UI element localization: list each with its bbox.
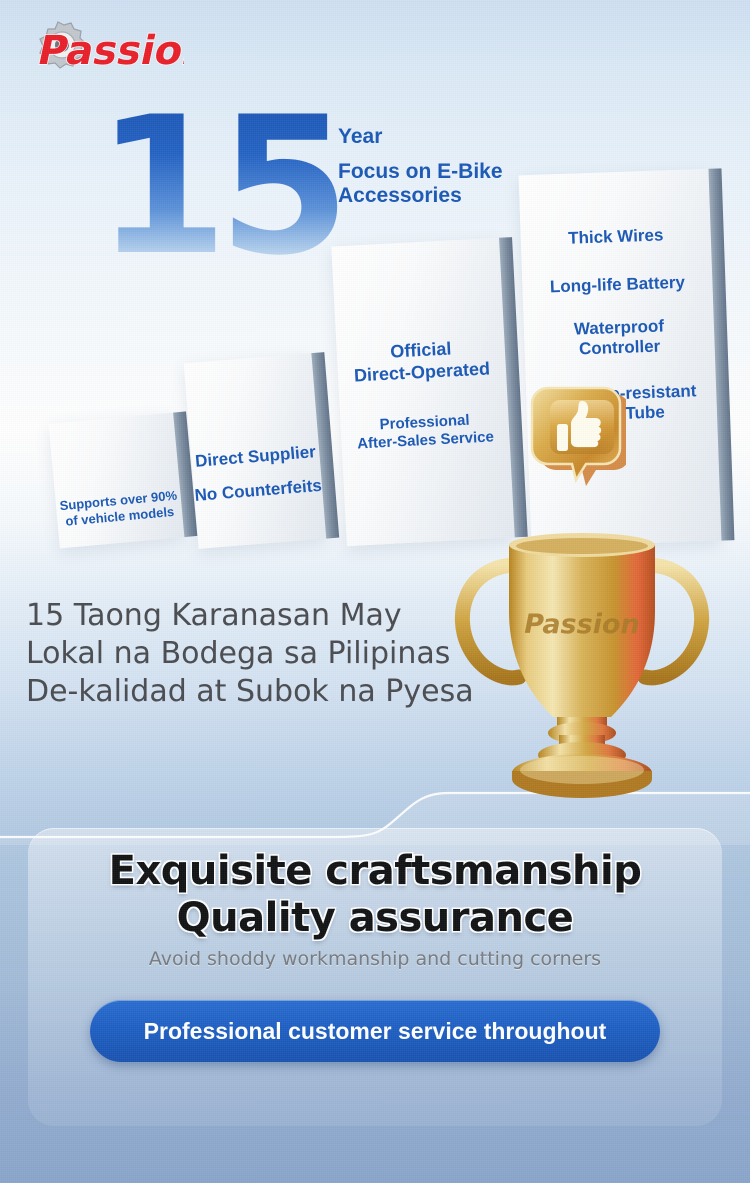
- step-2-text: Direct Supplier No Counterfeits: [191, 441, 323, 507]
- step-block-4: Thick Wires Long-life Battery Waterproof…: [519, 169, 722, 547]
- trophy-engraving: Passion: [524, 609, 639, 640]
- step-block-2: Direct Supplier No Counterfeits: [184, 353, 327, 549]
- feature-long-life-battery: Long-life Battery: [522, 272, 713, 299]
- brand-logo[interactable]: Passion: [14, 16, 184, 76]
- trophy-icon: Passion: [447, 505, 717, 800]
- feature-thick-wires: Thick Wires: [520, 224, 711, 251]
- step-block-3: Official Direct-Operated Professional Af…: [331, 238, 514, 546]
- step-block-1: Supports over 90% of vehicle models: [49, 413, 185, 549]
- thumbs-up-icon: [530, 386, 626, 490]
- footer-headline: Exquisite craftsmanship Quality assuranc…: [28, 848, 722, 942]
- brand-wordmark: Passion: [34, 26, 184, 73]
- step-2-line-2: No Counterfeits: [194, 476, 323, 507]
- feature-waterproof-controller: Waterproof Controller: [524, 315, 715, 362]
- thumbs-up-badge: [530, 386, 626, 490]
- footer-panel: Exquisite craftsmanship Quality assuranc…: [28, 828, 722, 1126]
- step-1-text: Supports over 90% of vehicle models: [55, 488, 182, 531]
- step-3-subtitle: Professional After-Sales Service: [340, 410, 510, 455]
- promo-poster: Passion 15 Year Focus on E-Bike Accessor…: [0, 0, 750, 1183]
- footer-subtitle: Avoid shoddy workmanship and cutting cor…: [28, 948, 722, 970]
- staircase-graphic: Supports over 90% of vehicle models Dire…: [0, 80, 750, 520]
- trophy-graphic: Passion: [447, 505, 717, 800]
- passion-logo-svg: Passion: [14, 16, 184, 76]
- step-3-title: Official Direct-Operated: [336, 336, 506, 389]
- footer-headline-line-1: Exquisite craftsmanship: [28, 848, 722, 895]
- footer-headline-line-2: Quality assurance: [28, 895, 722, 942]
- customer-service-button[interactable]: Professional customer service throughout: [90, 1000, 660, 1062]
- step-2-line-1: Direct Supplier: [191, 441, 320, 472]
